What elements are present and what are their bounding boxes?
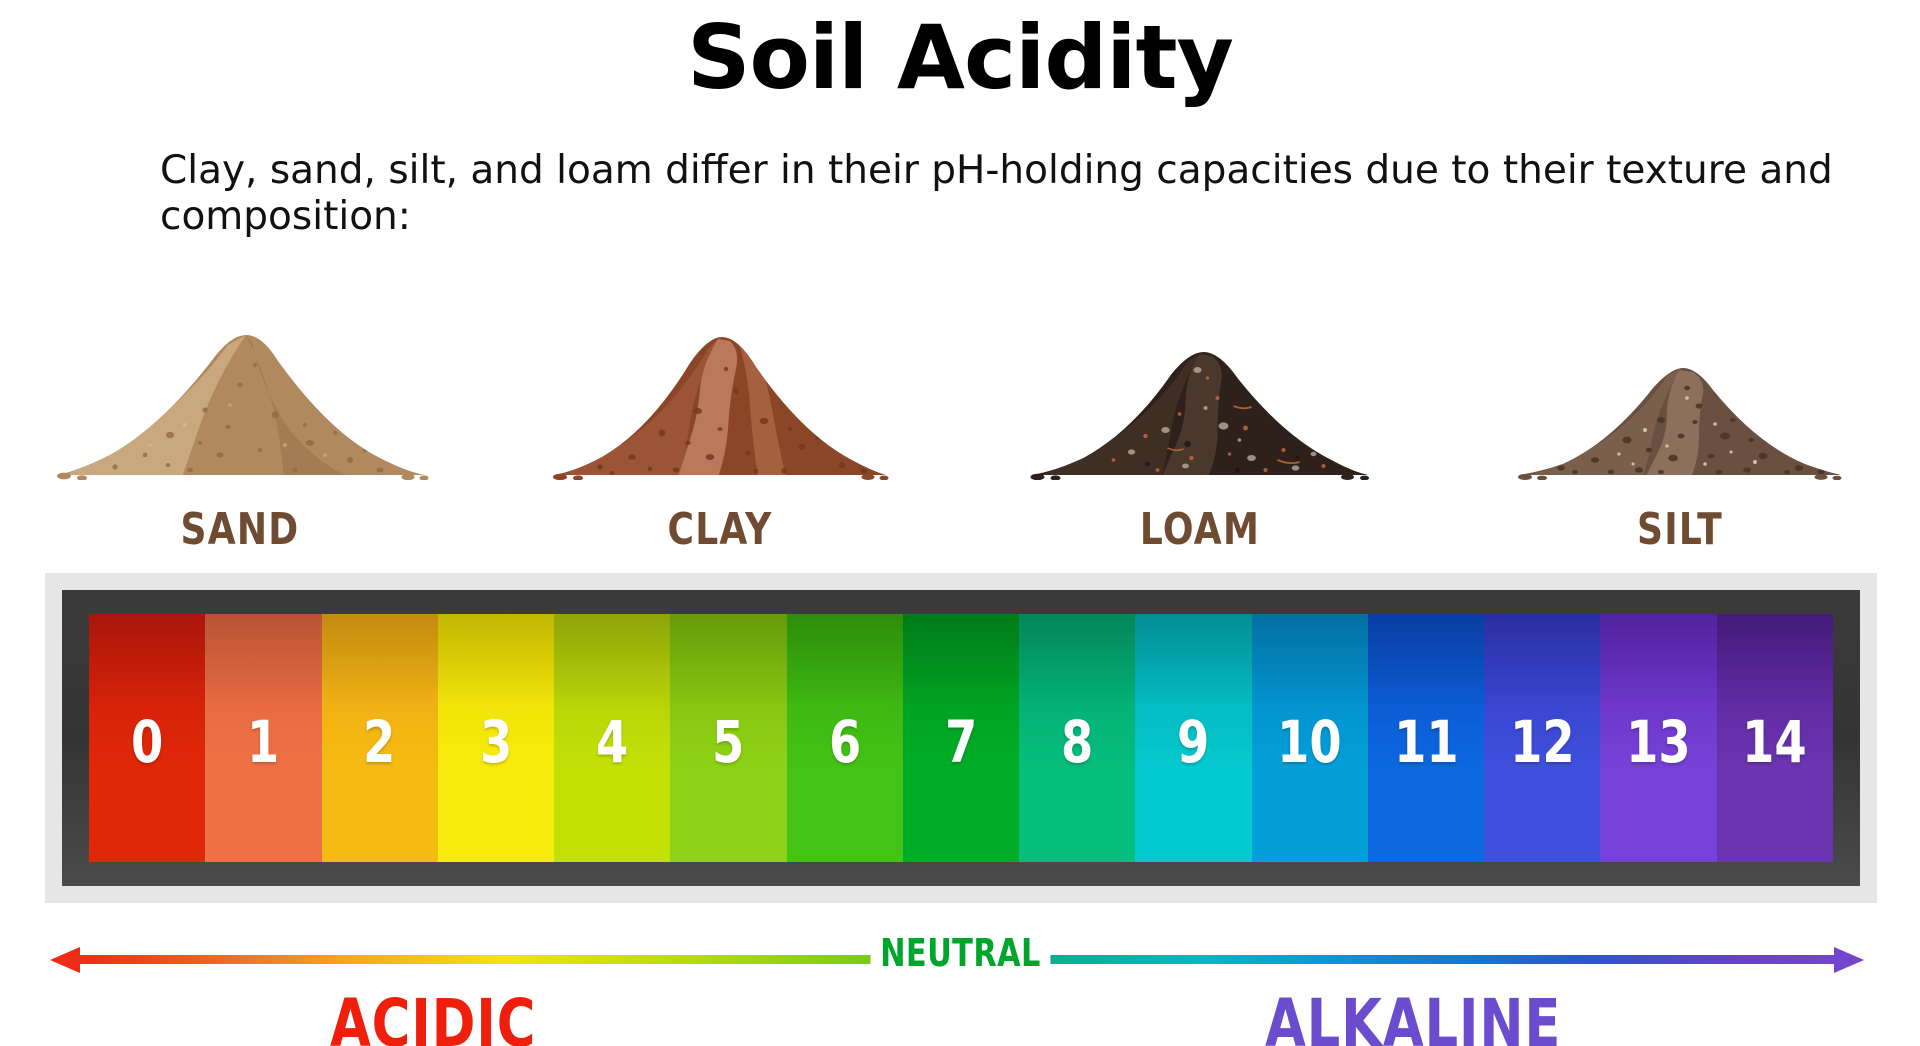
ph-band[interactable]: 5: [670, 614, 786, 862]
ph-band-value: 0: [131, 708, 163, 776]
alkaline-label: ALKALINE: [1265, 985, 1635, 1046]
ph-band[interactable]: 2: [322, 614, 438, 862]
band-gloss: [1135, 614, 1251, 708]
soil-card-clay: CLAY: [480, 255, 960, 555]
soil-card-silt: SILT: [1440, 255, 1920, 555]
ph-band[interactable]: 1: [205, 614, 321, 862]
band-gloss: [89, 614, 205, 708]
ph-band[interactable]: 6: [787, 614, 903, 862]
ph-band-value: 14: [1743, 708, 1808, 776]
soil-label: LOAM: [1003, 504, 1397, 555]
band-gloss: [1600, 614, 1716, 708]
ph-band-value: 5: [712, 708, 744, 776]
ph-band[interactable]: 4: [554, 614, 670, 862]
ph-band[interactable]: 9: [1135, 614, 1251, 862]
ph-band[interactable]: 11: [1368, 614, 1484, 862]
ph-band-value: 7: [945, 708, 977, 776]
soil-types-row: SAND: [0, 255, 1920, 555]
page-subtitle: Clay, sand, silt, and loam differ in the…: [160, 148, 1860, 240]
band-gloss: [1019, 614, 1135, 708]
band-gloss: [322, 614, 438, 708]
ph-band-value: 6: [829, 708, 861, 776]
ph-band[interactable]: 12: [1484, 614, 1600, 862]
band-gloss: [1717, 614, 1833, 708]
ph-band-value: 2: [364, 708, 396, 776]
ph-band-value: 12: [1510, 708, 1575, 776]
band-gloss: [903, 614, 1019, 708]
ph-scale-frame: 01234567891011121314: [45, 573, 1877, 903]
ph-band[interactable]: 7: [903, 614, 1019, 862]
ph-band[interactable]: 10: [1252, 614, 1368, 862]
soil-pile-icon: [1028, 340, 1373, 480]
acidic-label: ACIDIC: [330, 985, 588, 1046]
acidic-text: ACIDIC: [330, 985, 536, 1046]
neutral-label: NEUTRAL: [0, 931, 1920, 975]
neutral-text: NEUTRAL: [870, 931, 1050, 975]
ph-legend: NEUTRAL ACIDIC ALKALINE: [0, 905, 1920, 1046]
ph-band[interactable]: 13: [1600, 614, 1716, 862]
soil-pile-icon: [50, 315, 430, 480]
alkaline-text: ALKALINE: [1265, 985, 1561, 1046]
ph-band[interactable]: 0: [89, 614, 205, 862]
band-gloss: [1484, 614, 1600, 708]
soil-label: SAND: [43, 504, 437, 555]
ph-band-value: 9: [1177, 708, 1209, 776]
band-gloss: [438, 614, 554, 708]
ph-band[interactable]: 8: [1019, 614, 1135, 862]
ph-band-value: 3: [480, 708, 512, 776]
page-title: Soil Acidity: [0, 6, 1920, 109]
ph-band-value: 10: [1277, 708, 1342, 776]
band-gloss: [554, 614, 670, 708]
ph-band[interactable]: 14: [1717, 614, 1833, 862]
band-gloss: [1368, 614, 1484, 708]
ph-band-value: 11: [1394, 708, 1459, 776]
band-gloss: [787, 614, 903, 708]
ph-band[interactable]: 3: [438, 614, 554, 862]
soil-card-loam: LOAM: [960, 255, 1440, 555]
ph-scale-inner-frame: 01234567891011121314: [62, 590, 1860, 886]
band-gloss: [205, 614, 321, 708]
band-gloss: [1252, 614, 1368, 708]
band-gloss: [670, 614, 786, 708]
ph-band-value: 13: [1626, 708, 1691, 776]
soil-card-sand: SAND: [0, 255, 480, 555]
soil-pile-icon: [550, 325, 890, 480]
ph-scale-bands: 01234567891011121314: [89, 614, 1833, 862]
ph-band-value: 4: [596, 708, 628, 776]
soil-label: CLAY: [523, 504, 917, 555]
ph-band-value: 1: [247, 708, 279, 776]
ph-band-value: 8: [1061, 708, 1093, 776]
infographic-root: Soil Acidity Clay, sand, silt, and loam …: [0, 0, 1920, 1046]
soil-label: SILT: [1483, 504, 1877, 555]
soil-pile-icon: [1515, 360, 1845, 480]
